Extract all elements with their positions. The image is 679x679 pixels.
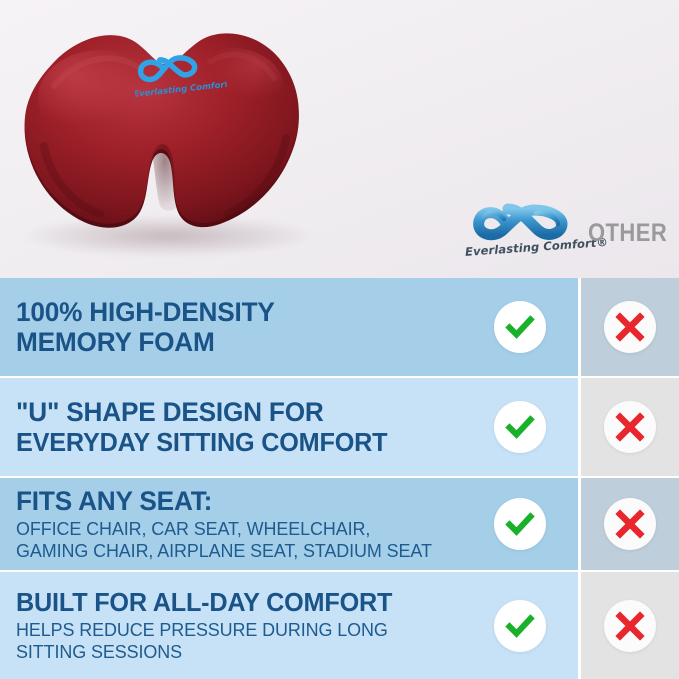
check-icon: [503, 310, 537, 344]
feature-text-cell: 100% HIGH-DENSITY MEMORY FOAM: [0, 278, 462, 376]
cross-badge: [604, 401, 656, 453]
check-badge: [494, 498, 546, 550]
feature-title-line2: EVERYDAY SITTING COMFORT: [16, 428, 435, 457]
table-row: FITS ANY SEAT: OFFICE CHAIR, CAR SEAT, W…: [0, 478, 679, 572]
cross-badge: [604, 498, 656, 550]
check-icon: [503, 609, 537, 643]
feature-subtext-line2: GAMING CHAIR, AIRPLANE SEAT, STADIUM SEA…: [16, 540, 435, 562]
brand-mark-cell: [462, 278, 578, 376]
check-badge: [494, 600, 546, 652]
brand-mark-cell: [462, 378, 578, 476]
cross-icon: [615, 611, 645, 641]
cross-badge: [604, 600, 656, 652]
feature-subtext-line2: SITTING SESSIONS: [16, 641, 435, 663]
feature-text-cell: BUILT FOR ALL-DAY COMFORT HELPS REDUCE P…: [0, 572, 462, 679]
other-mark-cell: [578, 278, 679, 376]
feature-text-cell: "U" SHAPE DESIGN FOR EVERYDAY SITTING CO…: [0, 378, 462, 476]
feature-title: 100% HIGH-DENSITY: [16, 297, 435, 327]
hero-section: Everlasting Comfort: [0, 0, 679, 278]
check-icon: [503, 507, 537, 541]
table-row: BUILT FOR ALL-DAY COMFORT HELPS REDUCE P…: [0, 572, 679, 679]
feature-subtext: HELPS REDUCE PRESSURE DURING LONG SITTIN…: [16, 619, 435, 663]
product-image: Everlasting Comfort: [8, 18, 328, 270]
cross-badge: [604, 301, 656, 353]
feature-title: "U" SHAPE DESIGN FOR: [16, 397, 435, 427]
cross-icon: [615, 509, 645, 539]
other-mark-cell: [578, 478, 679, 570]
comparison-table: 100% HIGH-DENSITY MEMORY FOAM: [0, 278, 679, 679]
brand-header: Everlasting Comfort® OTHER: [462, 192, 679, 274]
feature-subtext: OFFICE CHAIR, CAR SEAT, WHEELCHAIR, GAMI…: [16, 518, 435, 562]
other-brand-label: OTHER: [588, 219, 667, 248]
brand-mark-cell: [462, 572, 578, 679]
table-row: 100% HIGH-DENSITY MEMORY FOAM: [0, 278, 679, 378]
cross-icon: [615, 412, 645, 442]
feature-title-line2: MEMORY FOAM: [16, 327, 435, 357]
check-badge: [494, 401, 546, 453]
cross-icon: [615, 312, 645, 342]
check-icon: [503, 410, 537, 444]
table-row: "U" SHAPE DESIGN FOR EVERYDAY SITTING CO…: [0, 378, 679, 478]
brand-mark-cell: [462, 478, 578, 570]
other-mark-cell: [578, 572, 679, 679]
feature-title: BUILT FOR ALL-DAY COMFORT: [16, 588, 435, 617]
cushion-illustration: [14, 26, 320, 254]
check-badge: [494, 301, 546, 353]
feature-subtext-line1: OFFICE CHAIR, CAR SEAT, WHEELCHAIR,: [16, 518, 435, 540]
feature-text-cell: FITS ANY SEAT: OFFICE CHAIR, CAR SEAT, W…: [0, 478, 462, 570]
other-mark-cell: [578, 378, 679, 476]
product-comparison-image: Everlasting Comfort: [0, 0, 679, 679]
feature-title: FITS ANY SEAT:: [16, 486, 435, 516]
feature-subtext-line1: HELPS REDUCE PRESSURE DURING LONG: [16, 619, 435, 641]
everlasting-comfort-logo: Everlasting Comfort®: [462, 197, 580, 269]
